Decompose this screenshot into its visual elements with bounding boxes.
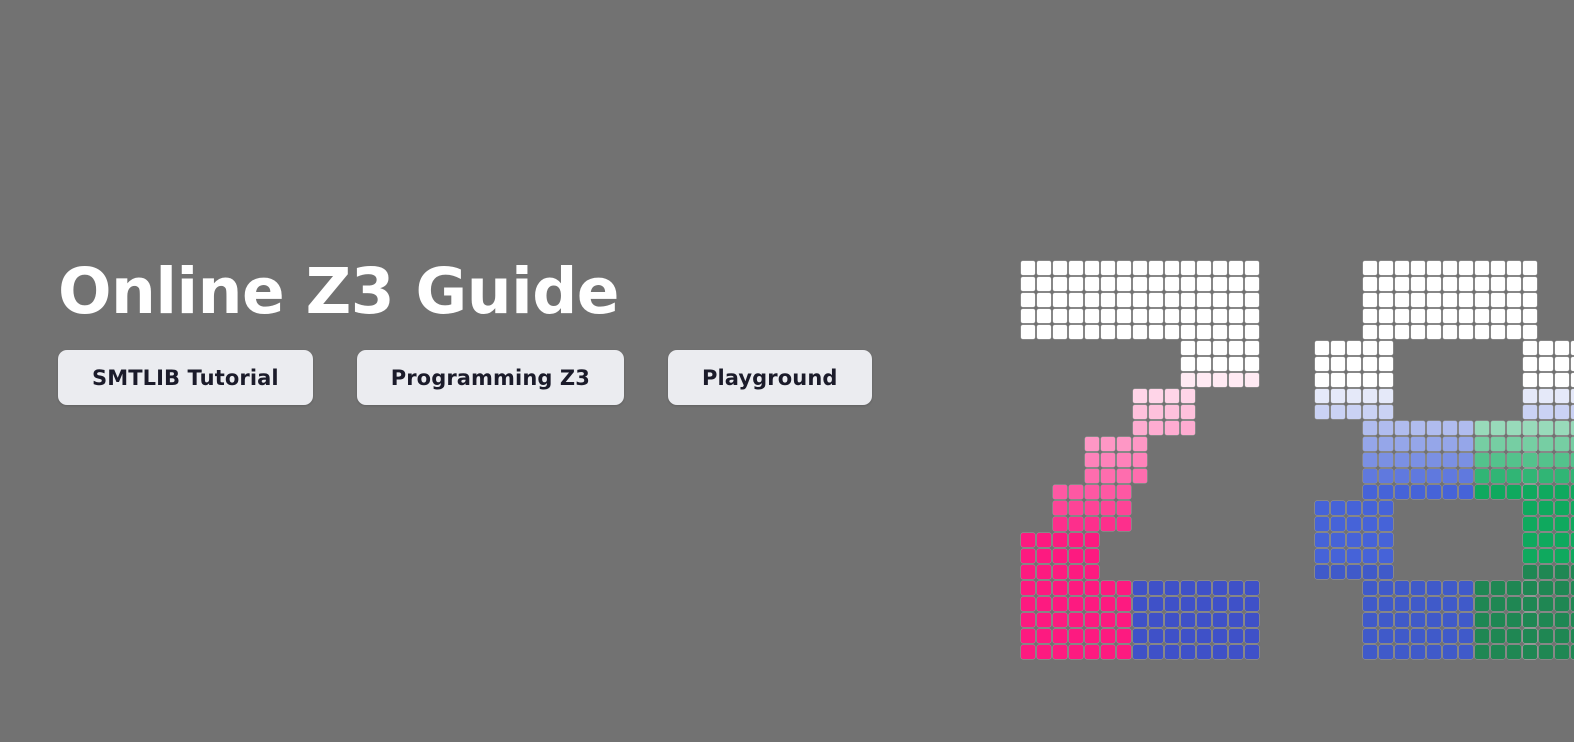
logo-pixel — [1475, 309, 1489, 323]
logo-pixel — [1555, 597, 1569, 611]
logo-pixel — [1213, 325, 1227, 339]
logo-pixel — [1523, 261, 1537, 275]
logo-pixel — [1181, 421, 1195, 435]
logo-pixel — [1245, 645, 1259, 659]
logo-pixel — [1523, 341, 1537, 355]
logo-pixel — [1523, 309, 1537, 323]
logo-pixel — [1165, 405, 1179, 419]
logo-pixel — [1555, 421, 1569, 435]
logo-pixel — [1101, 469, 1115, 483]
logo-pixel — [1363, 453, 1377, 467]
logo-pixel — [1491, 613, 1505, 627]
logo-pixel — [1459, 645, 1473, 659]
logo-pixel — [1197, 581, 1211, 595]
logo-pixel — [1315, 405, 1329, 419]
logo-pixel — [1475, 421, 1489, 435]
logo-pixel — [1197, 645, 1211, 659]
logo-pixel — [1411, 421, 1425, 435]
logo-pixel — [1117, 261, 1131, 275]
logo-pixel — [1037, 613, 1051, 627]
logo-pixel — [1395, 645, 1409, 659]
logo-pixel — [1229, 645, 1243, 659]
logo-pixel — [1149, 645, 1163, 659]
logo-pixel — [1443, 309, 1457, 323]
logo-pixel — [1555, 517, 1569, 531]
logo-pixel — [1133, 421, 1147, 435]
logo-pixel — [1475, 469, 1489, 483]
logo-pixel — [1443, 629, 1457, 643]
logo-pixel — [1149, 325, 1163, 339]
logo-pixel — [1395, 261, 1409, 275]
logo-pixel — [1053, 549, 1067, 563]
logo-pixel — [1213, 261, 1227, 275]
logo-pixel — [1101, 453, 1115, 467]
logo-pixel — [1395, 437, 1409, 451]
logo-pixel — [1379, 501, 1393, 515]
logo-pixel — [1229, 261, 1243, 275]
logo-pixel — [1181, 357, 1195, 371]
logo-pixel — [1363, 501, 1377, 515]
logo-pixel — [1101, 309, 1115, 323]
logo-pixel — [1539, 469, 1553, 483]
logo-pixel — [1085, 533, 1099, 547]
logo-pixel — [1475, 613, 1489, 627]
logo-pixel — [1523, 549, 1537, 563]
logo-pixel — [1491, 645, 1505, 659]
logo-pixel — [1037, 309, 1051, 323]
logo-pixel — [1117, 517, 1131, 531]
logo-pixel — [1085, 277, 1099, 291]
logo-pixel — [1101, 517, 1115, 531]
logo-pixel — [1165, 629, 1179, 643]
logo-pixel — [1523, 437, 1537, 451]
logo-pixel — [1149, 405, 1163, 419]
logo-pixel — [1539, 357, 1553, 371]
logo-pixel — [1443, 581, 1457, 595]
logo-pixel — [1197, 613, 1211, 627]
logo-pixel — [1459, 613, 1473, 627]
logo-pixel — [1459, 469, 1473, 483]
logo-pixel — [1459, 325, 1473, 339]
logo-pixel — [1117, 613, 1131, 627]
logo-pixel — [1181, 293, 1195, 307]
logo-pixel — [1245, 581, 1259, 595]
logo-pixel — [1379, 405, 1393, 419]
logo-pixel — [1491, 485, 1505, 499]
logo-pixel — [1069, 597, 1083, 611]
logo-pixel — [1443, 485, 1457, 499]
logo-pixel — [1149, 261, 1163, 275]
logo-pixel — [1395, 485, 1409, 499]
logo-pixel — [1053, 325, 1067, 339]
logo-pixel — [1491, 261, 1505, 275]
logo-pixel — [1101, 645, 1115, 659]
logo-pixel — [1459, 277, 1473, 291]
logo-pixel — [1069, 549, 1083, 563]
logo-pixel — [1085, 565, 1099, 579]
logo-pixel — [1459, 293, 1473, 307]
logo-pixel — [1117, 437, 1131, 451]
logo-pixel — [1363, 373, 1377, 387]
logo-pixel — [1427, 629, 1441, 643]
logo-pixel — [1037, 533, 1051, 547]
logo-pixel — [1523, 421, 1537, 435]
logo-pixel — [1101, 437, 1115, 451]
logo-pixel — [1411, 261, 1425, 275]
logo-pixel — [1411, 485, 1425, 499]
logo-pixel — [1053, 293, 1067, 307]
logo-pixel — [1379, 357, 1393, 371]
logo-pixel — [1197, 277, 1211, 291]
logo-pixel — [1347, 341, 1361, 355]
logo-pixel — [1459, 597, 1473, 611]
logo-pixel — [1117, 501, 1131, 515]
logo-pixel — [1555, 629, 1569, 643]
logo-pixel — [1539, 517, 1553, 531]
logo-pixel — [1523, 613, 1537, 627]
logo-pixel — [1213, 597, 1227, 611]
logo-pixel — [1085, 309, 1099, 323]
logo-pixel — [1363, 277, 1377, 291]
logo-pixel — [1347, 389, 1361, 403]
logo-pixel — [1363, 629, 1377, 643]
logo-pixel — [1229, 277, 1243, 291]
logo-pixel — [1085, 501, 1099, 515]
logo-pixel — [1507, 597, 1521, 611]
logo-pixel — [1459, 261, 1473, 275]
logo-pixel — [1395, 629, 1409, 643]
logo-pixel — [1101, 597, 1115, 611]
logo-pixel — [1213, 645, 1227, 659]
logo-pixel — [1245, 373, 1259, 387]
logo-pixel — [1069, 645, 1083, 659]
logo-pixel — [1053, 565, 1067, 579]
logo-pixel — [1245, 629, 1259, 643]
logo-pixel — [1459, 581, 1473, 595]
logo-pixel — [1213, 581, 1227, 595]
logo-pixel — [1101, 325, 1115, 339]
logo-pixel — [1331, 517, 1345, 531]
logo-pixel — [1181, 597, 1195, 611]
logo-pixel — [1363, 405, 1377, 419]
logo-pixel — [1021, 581, 1035, 595]
logo-pixel — [1427, 453, 1441, 467]
logo-pixel — [1379, 613, 1393, 627]
page-title: Online Z3 Guide — [58, 258, 978, 326]
logo-pixel — [1475, 645, 1489, 659]
logo-pixel — [1069, 309, 1083, 323]
logo-pixel — [1523, 517, 1537, 531]
logo-pixel — [1101, 501, 1115, 515]
logo-pixel — [1539, 613, 1553, 627]
logo-pixel — [1117, 469, 1131, 483]
logo-pixel — [1539, 645, 1553, 659]
logo-pixel — [1315, 501, 1329, 515]
logo-pixel — [1363, 325, 1377, 339]
logo-pixel — [1315, 565, 1329, 579]
logo-pixel — [1245, 597, 1259, 611]
logo-pixel — [1459, 453, 1473, 467]
logo-pixel — [1411, 309, 1425, 323]
logo-pixel — [1555, 453, 1569, 467]
logo-pixel — [1523, 533, 1537, 547]
logo-pixel — [1053, 277, 1067, 291]
logo-pixel — [1149, 421, 1163, 435]
logo-pixel — [1117, 645, 1131, 659]
logo-pixel — [1085, 581, 1099, 595]
logo-pixel — [1555, 341, 1569, 355]
logo-pixel — [1363, 565, 1377, 579]
logo-pixel — [1347, 501, 1361, 515]
logo-pixel — [1069, 261, 1083, 275]
logo-pixel — [1069, 629, 1083, 643]
logo-pixel — [1069, 277, 1083, 291]
logo-pixel — [1133, 309, 1147, 323]
logo-pixel — [1507, 485, 1521, 499]
logo-pixel — [1085, 261, 1099, 275]
logo-pixel — [1363, 389, 1377, 403]
logo-pixel — [1133, 645, 1147, 659]
logo-pixel — [1085, 325, 1099, 339]
logo-pixel — [1181, 373, 1195, 387]
logo-pixel — [1491, 277, 1505, 291]
logo-pixel — [1555, 357, 1569, 371]
logo-pixel — [1053, 597, 1067, 611]
logo-pixel — [1363, 533, 1377, 547]
logo-pixel — [1491, 421, 1505, 435]
logo-pixel — [1133, 613, 1147, 627]
logo-pixel — [1539, 501, 1553, 515]
logo-pixel — [1539, 453, 1553, 467]
logo-pixel — [1523, 501, 1537, 515]
logo-pixel — [1149, 581, 1163, 595]
logo-pixel — [1037, 549, 1051, 563]
logo-pixel — [1053, 581, 1067, 595]
logo-pixel — [1475, 437, 1489, 451]
logo-pixel — [1181, 629, 1195, 643]
logo-pixel — [1395, 453, 1409, 467]
logo-pixel — [1555, 501, 1569, 515]
logo-pixel — [1491, 597, 1505, 611]
logo-pixel — [1427, 645, 1441, 659]
logo-pixel — [1085, 293, 1099, 307]
logo-pixel — [1523, 325, 1537, 339]
logo-pixel — [1213, 277, 1227, 291]
logo-pixel — [1379, 373, 1393, 387]
logo-pixel — [1149, 277, 1163, 291]
logo-pixel — [1021, 261, 1035, 275]
logo-pixel — [1053, 629, 1067, 643]
logo-pixel — [1037, 565, 1051, 579]
logo-pixel — [1379, 565, 1393, 579]
logo-pixel — [1443, 277, 1457, 291]
programming-z3-button[interactable]: Programming Z3 — [357, 350, 624, 405]
logo-pixel — [1117, 597, 1131, 611]
logo-pixel — [1315, 357, 1329, 371]
logo-pixel — [1555, 645, 1569, 659]
logo-pixel — [1363, 293, 1377, 307]
logo-pixel — [1507, 581, 1521, 595]
logo-pixel — [1021, 645, 1035, 659]
logo-pixel — [1427, 325, 1441, 339]
logo-pixel — [1507, 277, 1521, 291]
logo-pixel — [1523, 389, 1537, 403]
logo-pixel — [1379, 437, 1393, 451]
logo-pixel — [1197, 597, 1211, 611]
logo-pixel — [1507, 309, 1521, 323]
logo-pixel — [1539, 405, 1553, 419]
smtlib-tutorial-button[interactable]: SMTLIB Tutorial — [58, 350, 313, 405]
logo-pixel — [1037, 325, 1051, 339]
logo-pixel — [1411, 597, 1425, 611]
logo-pixel — [1197, 373, 1211, 387]
logo-pixel — [1427, 277, 1441, 291]
logo-pixel — [1213, 309, 1227, 323]
logo-pixel — [1459, 629, 1473, 643]
logo-pixel — [1085, 645, 1099, 659]
logo-pixel — [1411, 437, 1425, 451]
logo-pixel — [1181, 645, 1195, 659]
logo-pixel — [1133, 597, 1147, 611]
playground-button[interactable]: Playground — [668, 350, 872, 405]
logo-pixel — [1475, 325, 1489, 339]
logo-pixel — [1331, 373, 1345, 387]
logo-pixel — [1491, 437, 1505, 451]
logo-pixel — [1117, 581, 1131, 595]
logo-pixel — [1069, 533, 1083, 547]
logo-pixel — [1395, 293, 1409, 307]
logo-pixel — [1085, 469, 1099, 483]
logo-pixel — [1021, 277, 1035, 291]
logo-pixel — [1085, 485, 1099, 499]
logo-pixel — [1213, 293, 1227, 307]
logo-pixel — [1021, 533, 1035, 547]
logo-pixel — [1245, 293, 1259, 307]
logo-pixel — [1491, 629, 1505, 643]
logo-pixel — [1021, 613, 1035, 627]
logo-pixel — [1363, 421, 1377, 435]
logo-pixel — [1331, 549, 1345, 563]
logo-pixel — [1181, 325, 1195, 339]
logo-pixel — [1037, 645, 1051, 659]
logo-pixel — [1037, 277, 1051, 291]
logo-pixel — [1133, 469, 1147, 483]
logo-pixel — [1165, 421, 1179, 435]
logo-pixel — [1363, 437, 1377, 451]
logo-pixel — [1245, 261, 1259, 275]
logo-pixel — [1085, 453, 1099, 467]
logo-pixel — [1165, 645, 1179, 659]
logo-pixel — [1507, 453, 1521, 467]
logo-pixel — [1245, 341, 1259, 355]
logo-pixel — [1411, 469, 1425, 483]
logo-pixel — [1197, 341, 1211, 355]
logo-pixel — [1475, 581, 1489, 595]
logo-pixel — [1229, 581, 1243, 595]
hero-section: Online Z3 Guide SMTLIB Tutorial Programm… — [0, 0, 1574, 742]
logo-pixel — [1475, 261, 1489, 275]
logo-pixel — [1347, 357, 1361, 371]
logo-pixel — [1069, 517, 1083, 531]
logo-pixel — [1491, 469, 1505, 483]
logo-pixel — [1539, 565, 1553, 579]
logo-pixel — [1245, 325, 1259, 339]
logo-pixel — [1347, 533, 1361, 547]
logo-pixel — [1181, 613, 1195, 627]
logo-pixel — [1507, 629, 1521, 643]
logo-pixel — [1165, 293, 1179, 307]
logo-pixel — [1347, 373, 1361, 387]
logo-pixel — [1395, 613, 1409, 627]
logo-pixel — [1213, 373, 1227, 387]
logo-pixel — [1053, 501, 1067, 515]
logo-pixel — [1133, 405, 1147, 419]
logo-pixel — [1363, 613, 1377, 627]
logo-pixel — [1363, 261, 1377, 275]
logo-pixel — [1443, 421, 1457, 435]
logo-pixel — [1101, 293, 1115, 307]
logo-pixel — [1379, 293, 1393, 307]
logo-pixel — [1021, 629, 1035, 643]
logo-pixel — [1229, 629, 1243, 643]
logo-pixel — [1021, 309, 1035, 323]
logo-pixel — [1507, 421, 1521, 435]
logo-pixel — [1363, 341, 1377, 355]
nav-button-group: SMTLIB Tutorial Programming Z3 Playgroun… — [58, 350, 978, 405]
logo-pixel — [1053, 485, 1067, 499]
logo-pixel — [1379, 453, 1393, 467]
logo-pixel — [1085, 597, 1099, 611]
logo-pixel — [1411, 293, 1425, 307]
logo-pixel — [1069, 325, 1083, 339]
logo-pixel — [1379, 629, 1393, 643]
logo-pixel — [1443, 261, 1457, 275]
logo-pixel — [1427, 597, 1441, 611]
logo-pixel — [1213, 341, 1227, 355]
logo-pixel — [1053, 533, 1067, 547]
logo-pixel — [1331, 405, 1345, 419]
logo-pixel — [1427, 469, 1441, 483]
logo-pixel — [1331, 357, 1345, 371]
logo-pixel — [1523, 629, 1537, 643]
logo-pixel — [1133, 261, 1147, 275]
logo-pixel — [1427, 261, 1441, 275]
logo-pixel — [1507, 325, 1521, 339]
logo-pixel — [1507, 261, 1521, 275]
logo-pixel — [1245, 309, 1259, 323]
logo-pixel — [1021, 293, 1035, 307]
logo-pixel — [1165, 325, 1179, 339]
logo-pixel — [1539, 533, 1553, 547]
logo-pixel — [1197, 293, 1211, 307]
logo-pixel — [1491, 581, 1505, 595]
logo-pixel — [1133, 453, 1147, 467]
logo-pixel — [1539, 437, 1553, 451]
logo-pixel — [1213, 629, 1227, 643]
logo-pixel — [1213, 357, 1227, 371]
logo-pixel — [1165, 309, 1179, 323]
logo-pixel — [1021, 549, 1035, 563]
logo-pixel — [1379, 517, 1393, 531]
logo-pixel — [1443, 645, 1457, 659]
logo-pixel — [1085, 437, 1099, 451]
logo-pixel — [1523, 373, 1537, 387]
logo-pixel — [1555, 565, 1569, 579]
logo-pixel — [1037, 293, 1051, 307]
logo-pixel — [1443, 293, 1457, 307]
logo-pixel — [1101, 485, 1115, 499]
logo-pixel — [1411, 453, 1425, 467]
